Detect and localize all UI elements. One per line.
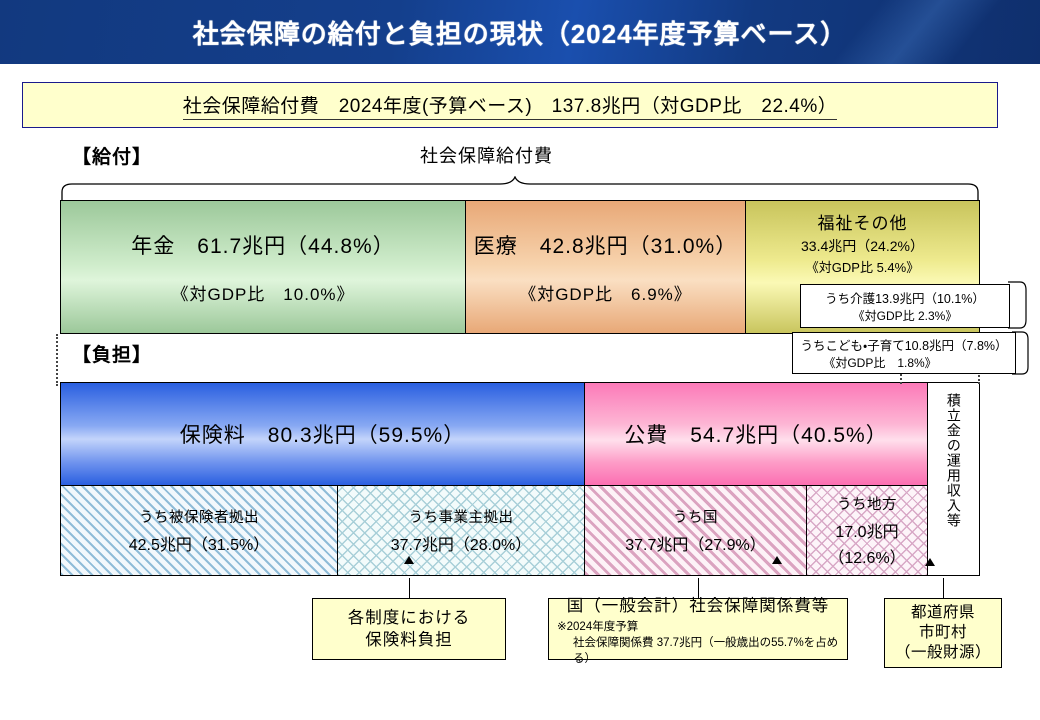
welfare-gdp: 《対GDP比 5.4%》 — [806, 257, 919, 276]
kodomo-line2: 《対GDP比 1.8%》 — [823, 354, 936, 371]
employer-value: 37.7兆円（28.0%） — [391, 531, 532, 555]
leader-national — [698, 578, 699, 598]
national-name: うち国 — [673, 506, 718, 527]
foot-kuni-note2: 社会保障関係費 37.7兆円（一般歳出の55.7%を占める） — [573, 634, 847, 666]
employer-name: うち事業主拠出 — [409, 506, 514, 527]
kaigo-line2: 《対GDP比 2.3%》 — [853, 307, 958, 324]
pension-gdp: 《対GDP比 10.0%》 — [171, 280, 354, 305]
foot-hoken-line2: 保険料負担 — [365, 629, 453, 651]
benefit-brace-icon — [60, 176, 980, 202]
burden-segment-insurance[interactable]: 保険料 80.3兆円（59.5%） — [61, 383, 585, 485]
national-value: 37.7兆円（27.9%） — [625, 531, 766, 555]
kodomo-line1: うちこども・子育て10.8兆円（7.8%） — [800, 335, 1007, 354]
foot-chiho-line2: 市町村 — [919, 623, 967, 643]
headline-box: 社会保障給付費 2024年度(予算ベース) 137.8兆円（対GDP比 22.4… — [22, 82, 998, 128]
benefit-segment-pension[interactable]: 年金 61.7兆円（44.8%） 《対GDP比 10.0%》 — [61, 201, 466, 333]
arrow-national-icon — [772, 556, 782, 564]
leader-insurance — [409, 578, 410, 598]
foot-kuni-note1: ※2024年度予算 — [557, 618, 638, 634]
medical-gdp: 《対GDP比 6.9%》 — [519, 280, 692, 305]
benefit-segment-medical[interactable]: 医療 42.8兆円（31.0%） 《対GDP比 6.9%》 — [466, 201, 746, 333]
callout-kaigo[interactable]: うち介護13.9兆円（10.1%） 《対GDP比 2.3%》 — [800, 284, 1010, 328]
medical-title: 医療 42.8兆円（31.0%） — [474, 230, 737, 260]
public-label: 公費 54.7兆円（40.5%） — [624, 419, 887, 449]
local-value: 17.0兆円 — [835, 518, 898, 542]
headline-text: 社会保障給付費 2024年度(予算ベース) 137.8兆円（対GDP比 22.4… — [183, 91, 838, 120]
reserve-fund-column[interactable]: 積立金の運用収入等 — [928, 382, 980, 576]
slide-root: 社会保障の給付と負担の現状（2024年度予算ベース） 社会保障給付費 2024年… — [0, 0, 1040, 720]
burden-main-row: 保険料 80.3兆円（59.5%） 公費 54.7兆円（40.5%） — [60, 382, 928, 486]
footnote-local-government[interactable]: 都道府県 市町村 （一般財源） — [884, 598, 1002, 668]
burden-sub-employer[interactable]: うち事業主拠出 37.7兆円（28.0%） — [338, 486, 585, 575]
pension-title: 年金 61.7兆円（44.8%） — [131, 230, 394, 260]
benefit-total-caption: 社会保障給付費 — [420, 142, 553, 168]
foot-hoken-line1: 各制度における — [348, 607, 471, 629]
benefit-section-label: 【給付】 — [72, 142, 152, 169]
leader-local — [943, 578, 944, 598]
welfare-amount: 33.4兆円（24.2%） — [801, 236, 924, 256]
title-banner: 社会保障の給付と負担の現状（2024年度予算ベース） — [0, 0, 1040, 64]
foot-chiho-line3: （一般財源） — [895, 643, 991, 663]
callout-kodomo[interactable]: うちこども・子育て10.8兆円（7.8%） 《対GDP比 1.8%》 — [792, 332, 1016, 374]
welfare-title: 福祉その他 — [818, 209, 908, 234]
burden-segment-public[interactable]: 公費 54.7兆円（40.5%） — [585, 383, 927, 485]
insurance-label: 保険料 80.3兆円（59.5%） — [180, 419, 465, 449]
arrow-local-icon — [925, 558, 935, 566]
local-name: うち地方 — [837, 493, 897, 514]
arrow-employer-icon — [404, 556, 414, 564]
insured-value: 42.5兆円（31.5%） — [129, 531, 270, 555]
burden-sub-insured[interactable]: うち被保険者拠出 42.5兆円（31.5%） — [61, 486, 338, 575]
page-title: 社会保障の給付と負担の現状（2024年度予算ベース） — [0, 0, 1040, 64]
burden-sub-row: うち被保険者拠出 42.5兆円（31.5%） うち事業主拠出 37.7兆円（28… — [60, 486, 928, 576]
burden-section-label: 【負担】 — [72, 340, 152, 367]
reserve-fund-label: 積立金の運用収入等 — [946, 393, 961, 528]
kaigo-line1: うち介護13.9兆円（10.1%） — [825, 288, 985, 307]
local-pct: （12.6%） — [828, 544, 905, 568]
burden-bar-group: 保険料 80.3兆円（59.5%） 公費 54.7兆円（40.5%） うち被保険… — [60, 382, 980, 578]
burden-sub-local[interactable]: うち地方 17.0兆円 （12.6%） — [807, 486, 927, 575]
foot-chiho-line1: 都道府県 — [911, 603, 975, 623]
footnote-insurance-burden[interactable]: 各制度における 保険料負担 — [312, 598, 506, 660]
left-connector-dotted — [56, 334, 58, 386]
footnote-national-budget[interactable]: 国（一般会計）社会保障関係費等 ※2024年度予算 社会保障関係費 37.7兆円… — [548, 598, 848, 660]
insured-name: うち被保険者拠出 — [139, 506, 259, 527]
